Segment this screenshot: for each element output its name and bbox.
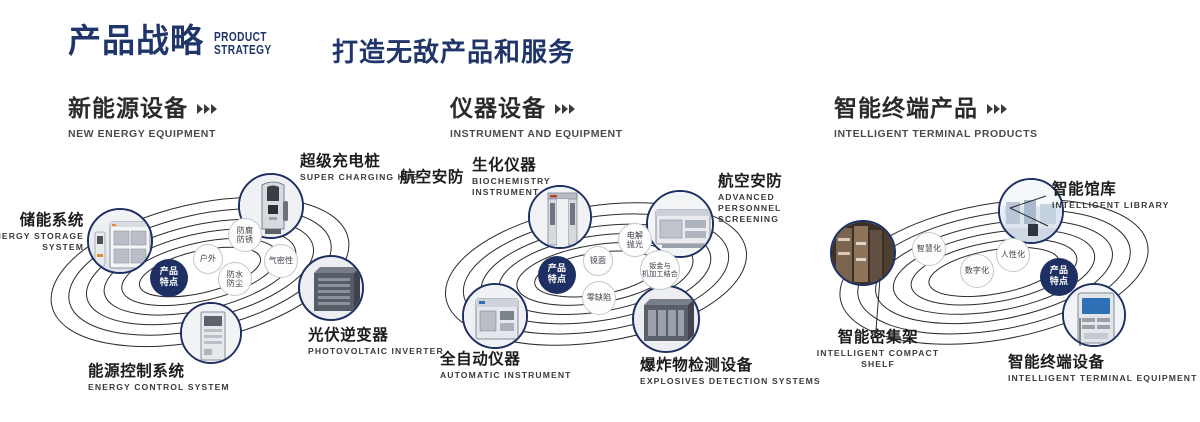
- feature-core-line2: 特点: [548, 275, 566, 286]
- feature-outdoor[interactable]: 户外: [193, 244, 223, 274]
- energy-storage-cabinet-image: [89, 210, 151, 272]
- feature-zero-defect[interactable]: 零缺陷: [582, 281, 616, 315]
- section-title-intelligent: 智能终端产品 INTELLIGENT TERMINAL PRODUCTS: [834, 96, 1038, 140]
- label-cn: 全自动仪器: [440, 350, 620, 368]
- label-cn: 智能馆库: [1052, 180, 1200, 198]
- label-cn: 生化仪器: [472, 156, 592, 174]
- compact-shelf-image: [832, 222, 894, 284]
- label-cn: 航空安防: [336, 168, 464, 186]
- detection-cabinet-image: [634, 287, 698, 351]
- section-label: 仪器设备: [450, 96, 546, 122]
- inverter-image: [300, 257, 362, 319]
- feature-intelligentization[interactable]: 智慧化: [912, 232, 946, 266]
- feature-label: 人性化: [1001, 250, 1026, 260]
- section-label: 新能源设备: [68, 96, 188, 122]
- label-en: BIOCHEMISTRY INSTRUMENT: [472, 176, 568, 198]
- section-label: 智能终端产品: [834, 96, 978, 122]
- feature-label: 镜面: [590, 256, 606, 266]
- feature-electropolishing[interactable]: 电解 抛光: [618, 223, 652, 257]
- section-title-new-energy: 新能源设备 NEW ENERGY EQUIPMENT: [68, 96, 217, 140]
- section-title-cn: 智能终端产品: [834, 96, 1038, 122]
- node-explosives-detection[interactable]: [632, 285, 700, 353]
- node-photovoltaic-inverter[interactable]: [298, 255, 364, 321]
- feature-humanization[interactable]: 人性化: [996, 238, 1030, 272]
- feature-label: 气密性: [269, 256, 294, 266]
- chevron-right-icon: [197, 104, 217, 114]
- label-intelligent-compact-shelf: 智能密集架 INTELLIGENT COMPACT SHELF: [800, 328, 956, 370]
- page-subtitle: 打造无敌产品和服务: [332, 32, 575, 69]
- label-biochemistry-instrument: 生化仪器 BIOCHEMISTRY INSTRUMENT: [472, 156, 592, 198]
- feature-mirror-finish[interactable]: 镜面: [583, 246, 613, 276]
- feature-sheetmetal-machining[interactable]: 钣金与 机加工结合: [640, 250, 680, 290]
- chevron-right-icon: [987, 104, 1007, 114]
- feature-label: 零缺陷: [587, 293, 612, 303]
- feature-airtightness[interactable]: 气密性: [264, 244, 298, 278]
- page-title-cn: 产品战略: [68, 24, 204, 57]
- feature-label-line1: 防水: [227, 270, 243, 280]
- node-energy-storage-system[interactable]: [87, 208, 153, 274]
- feature-label-line2: 防锈: [237, 235, 253, 245]
- chevron-right-icon: [555, 104, 575, 114]
- feature-label: 数字化: [965, 266, 990, 276]
- section-title-en: INSTRUMENT AND EQUIPMENT: [450, 128, 623, 140]
- section-title-en: NEW ENERGY EQUIPMENT: [68, 128, 217, 140]
- feature-label: 户外: [200, 254, 216, 264]
- feature-core-line1: 产品: [160, 267, 178, 278]
- product-strategy-infographic: 产品战略 PRODUCT STRATEGY 打造无敌产品和服务 新能源设备 NE…: [0, 0, 1200, 422]
- page-title-en: PRODUCT STRATEGY: [214, 30, 272, 56]
- section-title-cn: 仪器设备: [450, 96, 623, 122]
- feature-label-line1: 电解: [627, 231, 643, 241]
- feature-waterproof-dustproof[interactable]: 防水 防尘: [218, 262, 252, 296]
- label-en: INTELLIGENT LIBRARY: [1052, 200, 1200, 211]
- cluster-instrument: 产品 特点 镜面 电解 抛光 钣金与 机加工结合 零缺陷 航空安防 生化仪器 B…: [400, 150, 800, 410]
- node-energy-control-system[interactable]: [180, 302, 242, 364]
- label-intelligent-terminal-equipment: 智能终端设备 INTELLIGENT TERMINAL EQUIPMENT: [1008, 353, 1200, 384]
- label-energy-storage-system: 储能系统 ENERGY STORAGE SYSTEM: [0, 211, 84, 253]
- page-title: 产品战略 PRODUCT STRATEGY: [68, 24, 288, 57]
- label-cn: 智能终端设备: [1008, 353, 1200, 371]
- automatic-instrument-image: [464, 285, 526, 347]
- label-cn: 智能密集架: [800, 328, 956, 346]
- terminal-kiosk-image: [1064, 285, 1124, 345]
- section-title-en: INTELLIGENT TERMINAL PRODUCTS: [834, 128, 1038, 140]
- node-intelligent-terminal-equipment[interactable]: [1062, 283, 1126, 347]
- feature-core-product-characteristics[interactable]: 产品 特点: [1040, 258, 1078, 296]
- label-en: ENERGY CONTROL SYSTEM: [88, 382, 288, 393]
- label-intelligent-library: 智能馆库 INTELLIGENT LIBRARY: [1052, 180, 1200, 211]
- label-en: INTELLIGENT TERMINAL EQUIPMENT: [1008, 373, 1200, 384]
- feature-core-line2: 特点: [160, 278, 178, 289]
- section-title-instrument: 仪器设备 INSTRUMENT AND EQUIPMENT: [450, 96, 623, 140]
- feature-label-line2: 抛光: [627, 240, 643, 250]
- feature-core-line1: 产品: [1050, 266, 1068, 277]
- label-en: AUTOMATIC INSTRUMENT: [440, 370, 620, 381]
- screening-machine-image: [648, 192, 712, 256]
- feature-anticorrosion[interactable]: 防腐 防锈: [228, 218, 262, 252]
- node-intelligent-compact-shelf[interactable]: [830, 220, 896, 286]
- section-title-cn: 新能源设备: [68, 96, 217, 122]
- feature-core-line1: 产品: [548, 264, 566, 275]
- node-advanced-personnel-screening[interactable]: [646, 190, 714, 258]
- feature-label: 智慧化: [917, 244, 942, 254]
- feature-label-line1: 钣金与: [649, 262, 671, 271]
- node-automatic-instrument[interactable]: [462, 283, 528, 349]
- feature-digitalization[interactable]: 数字化: [960, 254, 994, 288]
- label-cn: 储能系统: [0, 211, 84, 229]
- cluster-intelligent: 智慧化 数字化 人性化 产品 特点 智能馆库 INTELLIGENT LIBRA…: [790, 150, 1200, 410]
- label-energy-control-system: 能源控制系统 ENERGY CONTROL SYSTEM: [88, 362, 288, 393]
- feature-label-line1: 防腐: [237, 226, 253, 236]
- label-automatic-instrument: 全自动仪器 AUTOMATIC INSTRUMENT: [440, 350, 620, 381]
- label-en: INTELLIGENT COMPACT SHELF: [800, 348, 956, 370]
- feature-label-line2: 防尘: [227, 279, 243, 289]
- label-cn: 能源控制系统: [88, 362, 288, 380]
- page-title-en-line2: STRATEGY: [214, 43, 272, 56]
- control-cabinet-image: [182, 304, 240, 362]
- feature-core-product-characteristics[interactable]: 产品 特点: [538, 256, 576, 294]
- feature-label-line2: 机加工结合: [642, 270, 678, 279]
- cluster-new-energy: 产品 特点 户外 防腐 防锈 防水 防尘 气密性 储能系统 ENERGY STO…: [0, 150, 400, 410]
- label-aviation-security-left: 航空安防: [336, 168, 464, 186]
- label-en: ENERGY STORAGE SYSTEM: [0, 231, 84, 253]
- feature-core-product-characteristics[interactable]: 产品 特点: [150, 259, 188, 297]
- feature-core-line2: 特点: [1050, 277, 1068, 288]
